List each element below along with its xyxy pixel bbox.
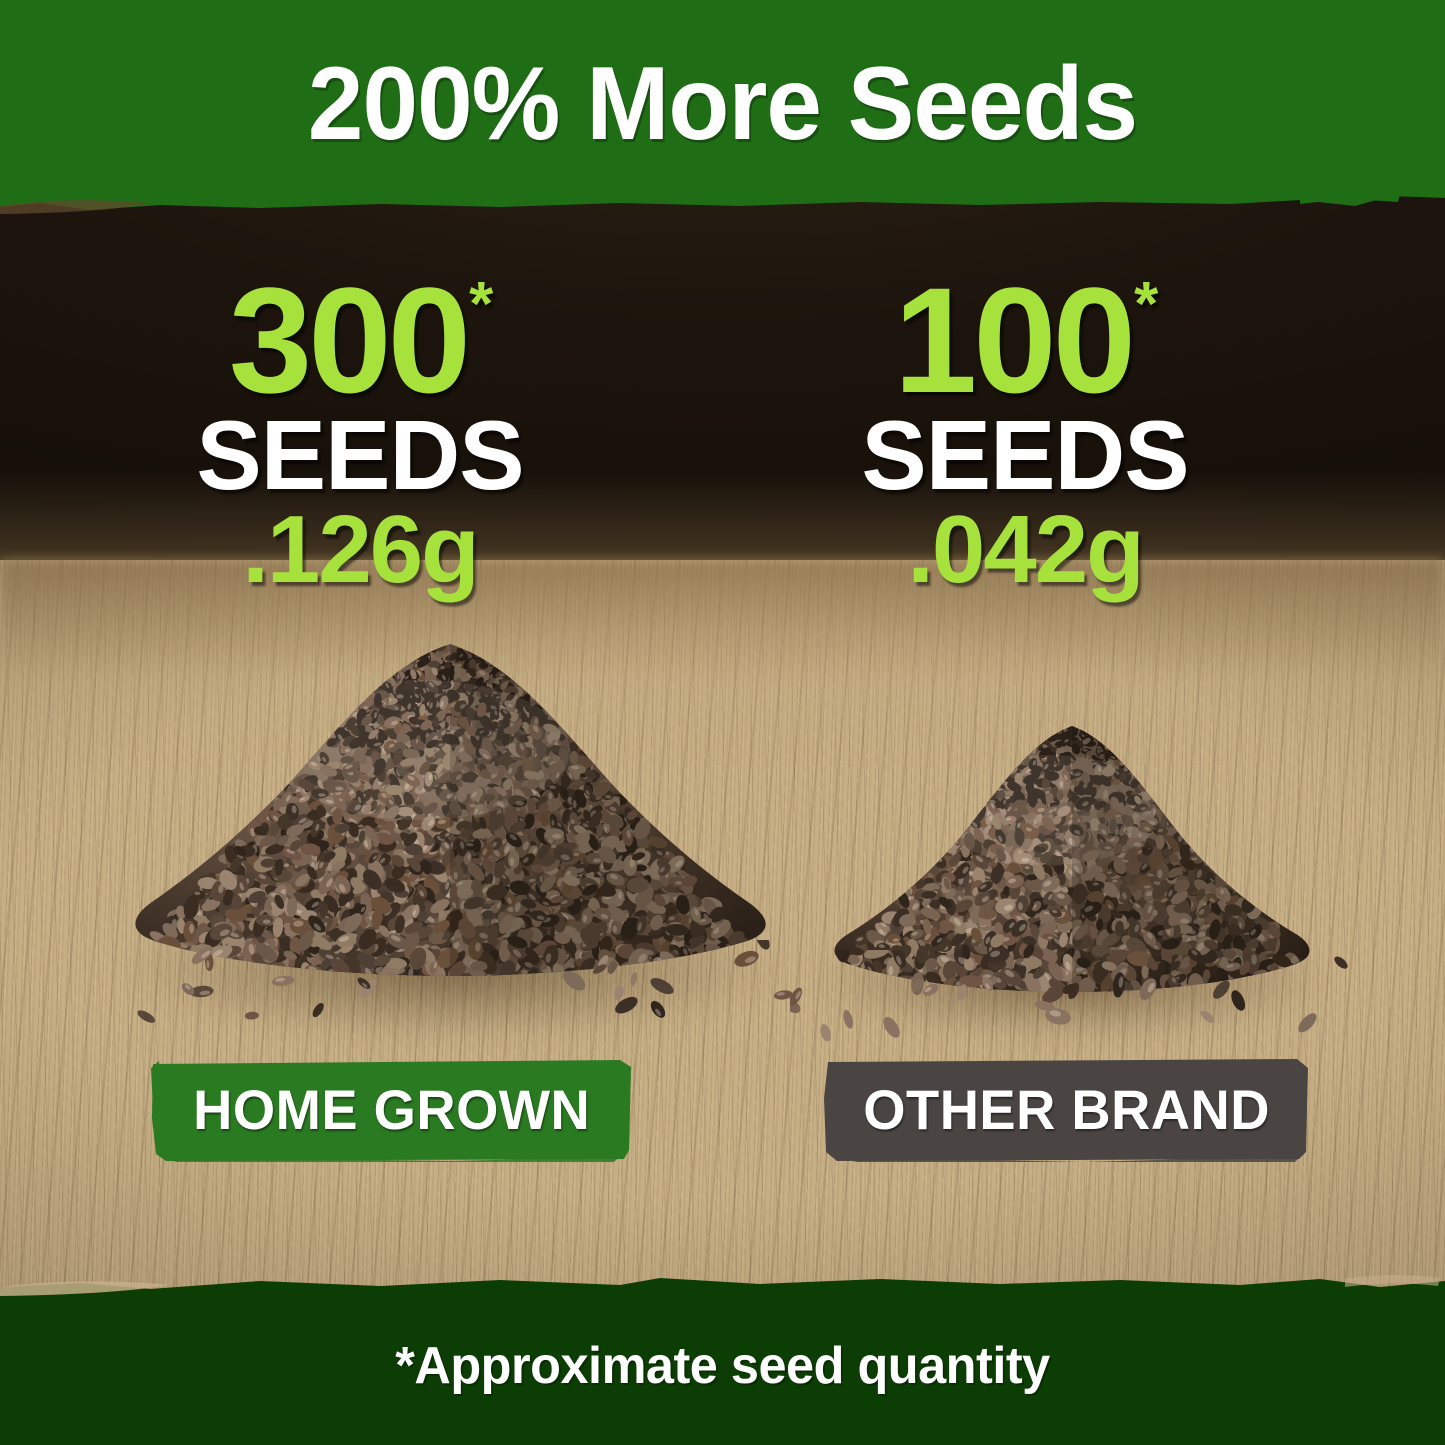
right-seed-count-value: 100 — [894, 256, 1132, 424]
product-comparison-infographic: 300* SEEDS .126g 100* SEEDS .042g HOME G… — [0, 0, 1445, 1445]
other-brand-badge: OTHER BRAND — [823, 1058, 1310, 1162]
left-stat-block: 300* SEEDS .126g — [80, 268, 640, 598]
left-scattered-seeds — [120, 940, 800, 1030]
home-grown-label: HOME GROWN — [193, 1082, 590, 1138]
header-banner: 200% More Seeds — [0, 0, 1445, 215]
left-weight: .126g — [80, 502, 640, 598]
left-seed-count: 300* — [80, 268, 640, 412]
other-brand-label: OTHER BRAND — [863, 1082, 1270, 1138]
right-weight: .042g — [745, 502, 1305, 598]
footer-banner: *Approximate seed quantity — [0, 1265, 1445, 1445]
footnote: *Approximate seed quantity — [22, 1340, 1424, 1392]
right-asterisk: * — [1134, 270, 1158, 339]
home-grown-badge: HOME GROWN — [150, 1058, 633, 1162]
left-asterisk: * — [469, 270, 493, 339]
right-stat-block: 100* SEEDS .042g — [745, 268, 1305, 598]
right-scattered-seeds — [790, 950, 1350, 1045]
left-seed-count-value: 300 — [229, 256, 467, 424]
page-title: 200% More Seeds — [29, 52, 1416, 156]
right-seed-count: 100* — [745, 268, 1305, 412]
